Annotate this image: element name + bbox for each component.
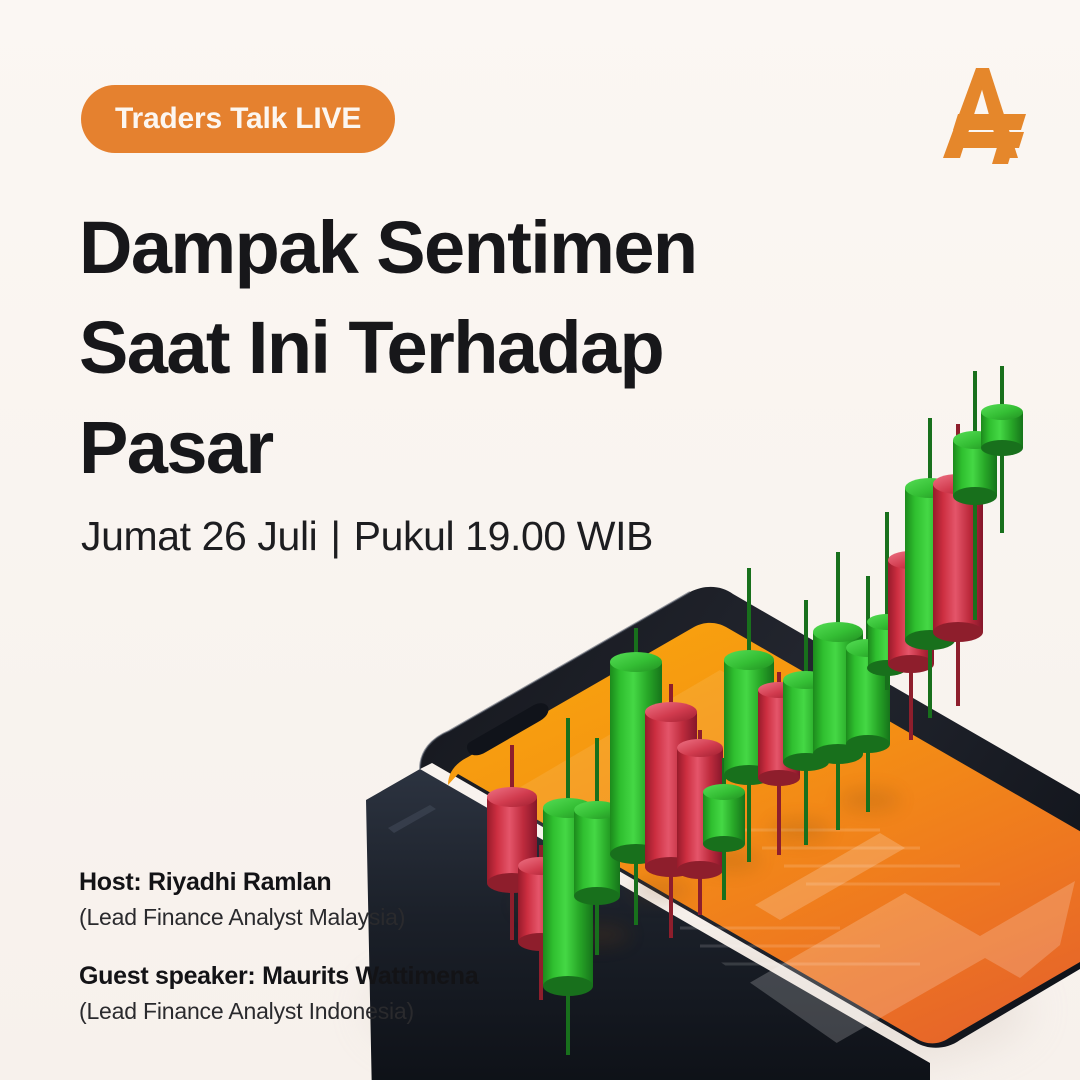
event-datetime: Jumat 26 Juli | Pukul 19.00 WIB — [81, 513, 653, 560]
live-badge-label: Traders Talk LIVE — [115, 102, 361, 136]
a-currency-icon — [934, 58, 1034, 168]
guest-name: Guest speaker: Maurits Wattimena — [79, 960, 478, 993]
event-date: Jumat 26 Juli — [81, 513, 317, 560]
host-name: Host: Riyadhi Ramlan — [79, 866, 478, 899]
datetime-separator: | — [330, 513, 340, 560]
promo-poster: Traders Talk LIVE Dampak Sentimen Saat I… — [0, 0, 1080, 1080]
headline-line-1: Dampak Sentimen — [79, 198, 859, 298]
poster-content: Traders Talk LIVE Dampak Sentimen Saat I… — [0, 0, 1080, 1080]
headline-line-3: Pasar — [79, 398, 859, 498]
guest-role: (Lead Finance Analyst Indonesia) — [79, 995, 478, 1028]
headline-line-2: Saat Ini Terhadap — [79, 298, 859, 398]
guest-credit: Guest speaker: Maurits Wattimena (Lead F… — [79, 960, 478, 1028]
event-time: Pukul 19.00 WIB — [354, 513, 653, 560]
brand-logo — [934, 58, 1034, 168]
host-credit: Host: Riyadhi Ramlan (Lead Finance Analy… — [79, 866, 478, 934]
host-role: (Lead Finance Analyst Malaysia) — [79, 901, 478, 934]
page-title: Dampak Sentimen Saat Ini Terhadap Pasar — [79, 198, 859, 498]
credits-block: Host: Riyadhi Ramlan (Lead Finance Analy… — [79, 866, 478, 1028]
live-badge: Traders Talk LIVE — [81, 85, 395, 153]
